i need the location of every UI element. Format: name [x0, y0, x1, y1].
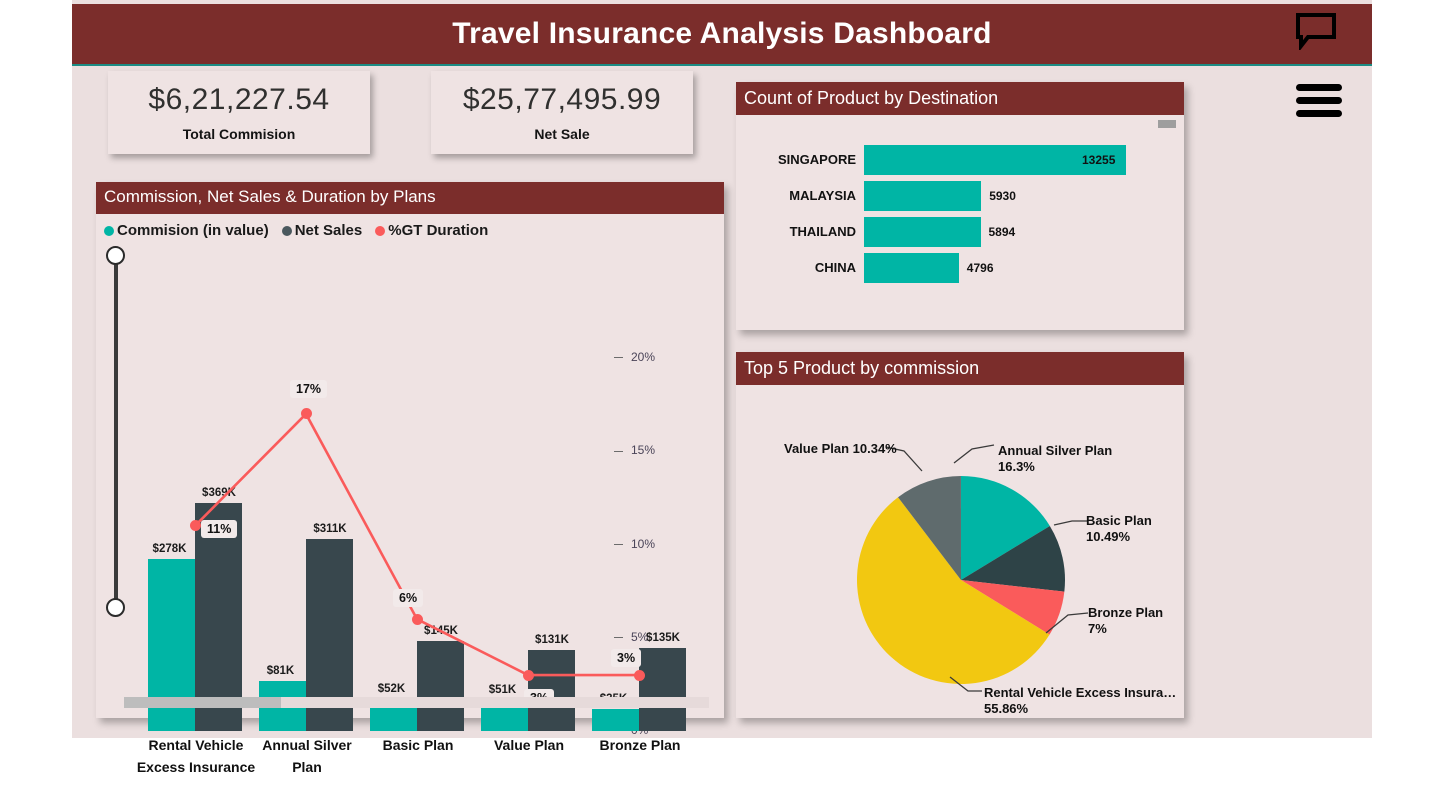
combo-plot-area: 0%5%10%15%20% $278K$369K$81K$311K$52K$14… — [136, 246, 672, 791]
pie-chart-title: Top 5 Product by commission — [736, 352, 1184, 385]
page-title: Travel Insurance Analysis Dashboard — [72, 4, 1372, 64]
x-axis-label[interactable]: Value Plan — [469, 734, 589, 756]
kpi-value: $25,77,495.99 — [463, 83, 661, 117]
dashboard-canvas: Travel Insurance Analysis Dashboard $6,2… — [72, 0, 1372, 738]
destination-category-label: SINGAPORE — [778, 145, 856, 175]
vertical-range-slider[interactable] — [105, 246, 127, 616]
kpi-card-net-sale[interactable]: $25,77,495.99 Net Sale — [431, 71, 693, 154]
destination-bar[interactable] — [864, 181, 981, 211]
destination-bar-row[interactable]: SINGAPORE13255 — [736, 145, 1184, 175]
destination-category-label: THAILAND — [790, 217, 856, 247]
kpi-card-total-commission[interactable]: $6,21,227.54 Total Commision — [108, 71, 370, 154]
legend-item-commision[interactable]: Commision (in value) — [104, 222, 269, 239]
dashboard-header: Travel Insurance Analysis Dashboard — [72, 4, 1372, 66]
pie-chart-card: Top 5 Product by commission Annual Silve… — [736, 352, 1184, 718]
line-data-point[interactable] — [190, 520, 201, 531]
destination-bar[interactable] — [864, 217, 981, 247]
pie-svg — [736, 385, 1184, 718]
line-value-label: 11% — [201, 520, 237, 538]
destination-value-label: 5894 — [989, 217, 1016, 247]
legend-item-net-sales[interactable]: Net Sales — [282, 222, 363, 239]
line-data-point[interactable] — [523, 670, 534, 681]
legend-label: %GT Duration — [388, 222, 488, 239]
legend-label: Commision (in value) — [117, 222, 269, 239]
slider-track — [114, 256, 118, 606]
legend-label: Net Sales — [295, 222, 363, 239]
pie-plot-area: Annual Silver Plan16.3%Basic Plan10.49%B… — [736, 385, 1184, 718]
menu-bar-1 — [1296, 84, 1342, 91]
line-value-label: 17% — [290, 380, 327, 398]
pie-slice-label: Basic Plan10.49% — [1086, 513, 1152, 545]
combo-chart-title: Commission, Net Sales & Duration by Plan… — [96, 182, 724, 214]
combo-chart-card: Commission, Net Sales & Duration by Plan… — [96, 182, 724, 718]
pie-slice-label: Value Plan 10.34% — [784, 441, 897, 457]
destination-plot-area: SINGAPORE13255MALAYSIA5930THAILAND5894CH… — [736, 115, 1184, 330]
pie-slice-label: Annual Silver Plan16.3% — [998, 443, 1112, 475]
destination-chart-title: Count of Product by Destination — [736, 82, 1184, 115]
line-value-label: 6% — [393, 589, 423, 607]
destination-bar-row[interactable]: CHINA4796 — [736, 253, 1184, 283]
menu-bar-2 — [1296, 97, 1342, 104]
kpi-label: Total Commision — [183, 126, 296, 142]
destination-value-label: 5930 — [989, 181, 1016, 211]
slider-knob-bottom[interactable] — [106, 598, 125, 617]
destination-category-label: CHINA — [815, 253, 856, 283]
horizontal-scrollbar[interactable] — [124, 697, 709, 708]
pie-slice-label: Rental Vehicle Excess Insura…55.86% — [984, 685, 1176, 717]
legend-swatch-commision — [104, 226, 114, 236]
destination-bar-row[interactable]: THAILAND5894 — [736, 217, 1184, 247]
legend-swatch-net-sales — [282, 226, 292, 236]
line-data-point[interactable] — [634, 670, 645, 681]
destination-value-label: 13255 — [1082, 145, 1115, 175]
x-axis-label[interactable]: Rental Vehicle Excess Insurance — [136, 734, 256, 778]
combo-chart-legend: Commision (in value) Net Sales %GT Durat… — [104, 222, 497, 239]
legend-item-gt-duration[interactable]: %GT Duration — [375, 222, 488, 239]
kpi-label: Net Sale — [534, 126, 589, 142]
x-axis-label[interactable]: Basic Plan — [358, 734, 478, 756]
destination-bar[interactable] — [864, 253, 959, 283]
speech-bubble-icon[interactable] — [1294, 12, 1338, 50]
scrollbar-thumb[interactable] — [124, 697, 281, 708]
line-data-point[interactable] — [301, 408, 312, 419]
destination-value-label: 4796 — [967, 253, 994, 283]
destination-category-label: MALAYSIA — [789, 181, 856, 211]
kpi-value: $6,21,227.54 — [148, 83, 329, 117]
menu-bar-3 — [1296, 110, 1342, 117]
duration-line — [195, 414, 639, 675]
x-axis-label[interactable]: Annual Silver Plan — [247, 734, 367, 778]
line-series-layer — [136, 246, 672, 791]
x-axis-label[interactable]: Bronze Plan — [580, 734, 700, 756]
legend-swatch-gt-duration — [375, 226, 385, 236]
slider-knob-top[interactable] — [106, 246, 125, 265]
hamburger-menu-icon[interactable] — [1296, 84, 1342, 124]
line-data-point[interactable] — [412, 614, 423, 625]
pie-leader-line — [1054, 521, 1088, 525]
destination-chart-card: Count of Product by Destination SINGAPOR… — [736, 82, 1184, 330]
destination-bar-row[interactable]: MALAYSIA5930 — [736, 181, 1184, 211]
line-value-label: 3% — [611, 649, 641, 667]
pie-leader-line — [954, 445, 994, 463]
pie-slice-label: Bronze Plan7% — [1088, 605, 1163, 637]
